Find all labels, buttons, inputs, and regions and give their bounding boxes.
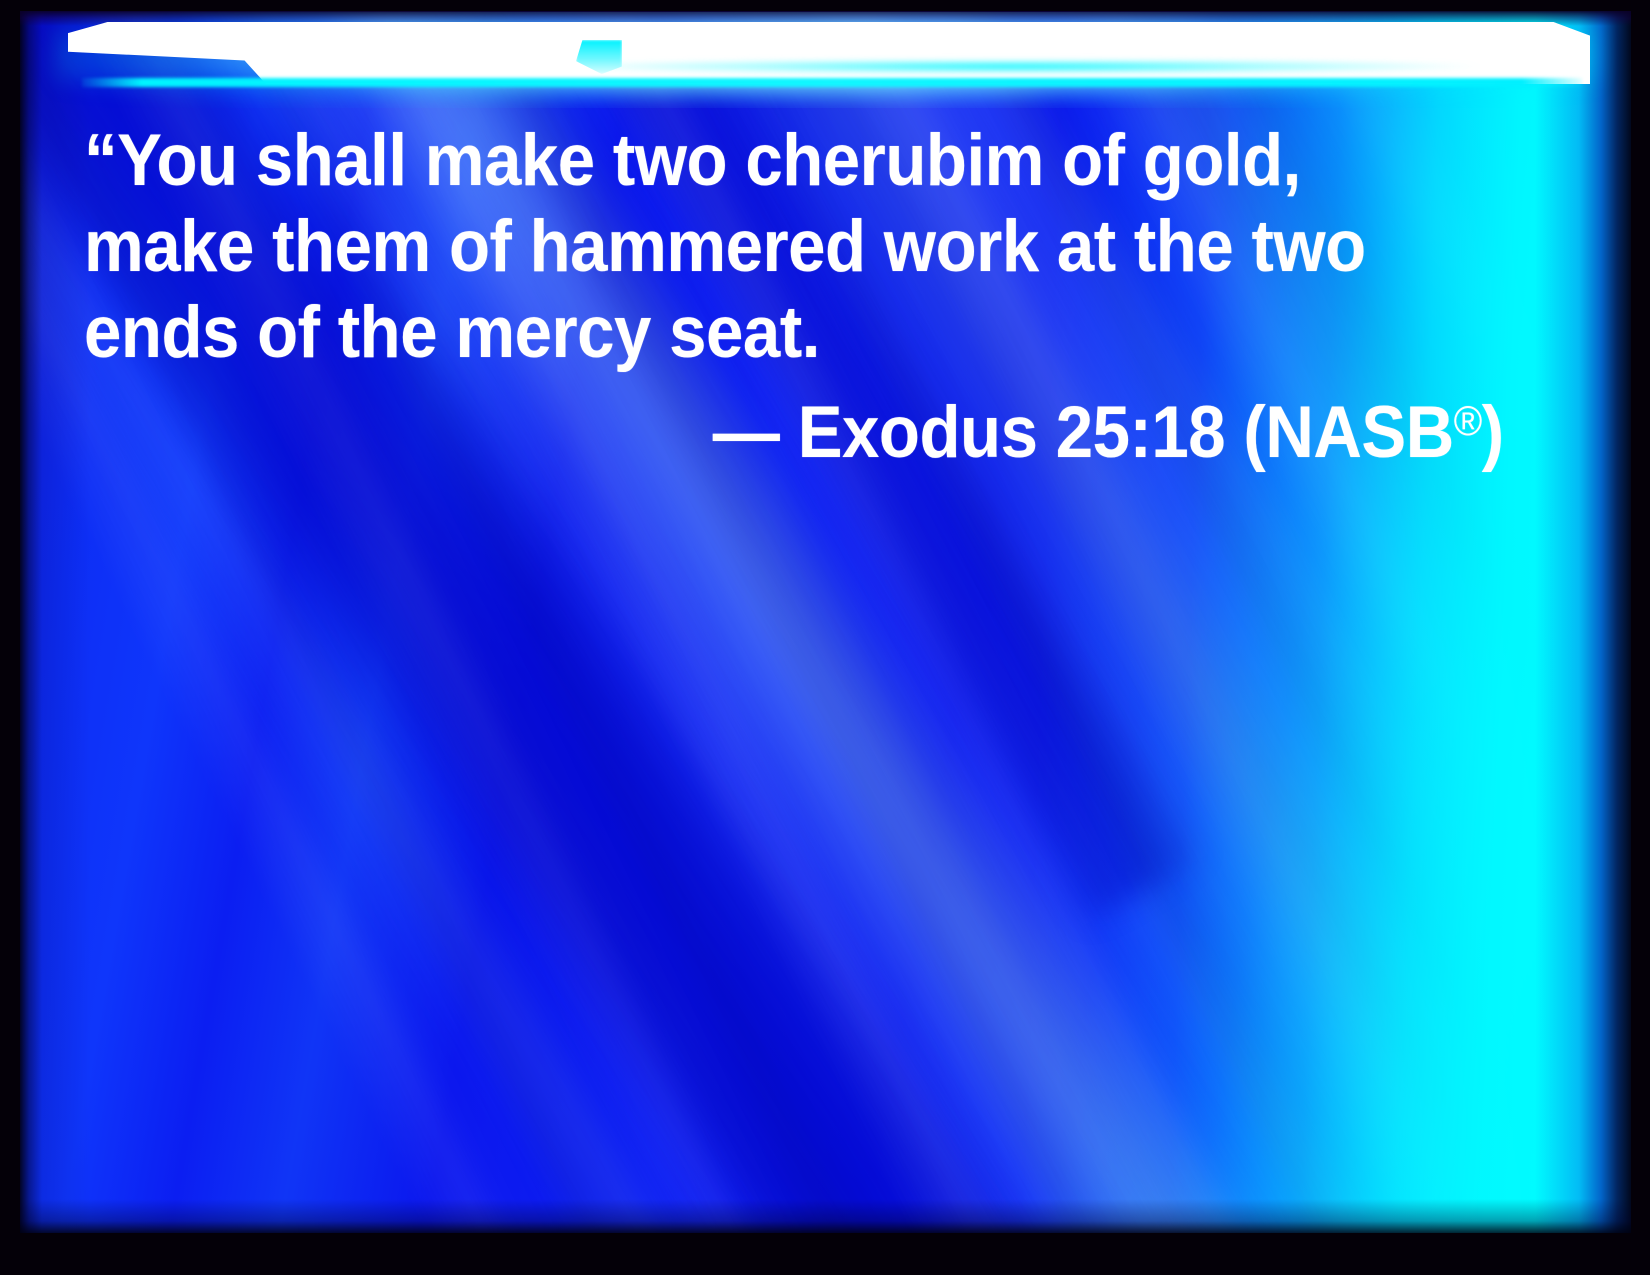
open-paren: ( [1244, 392, 1266, 473]
verse-slide: “You shall make two cherubim of gold, ma… [0, 0, 1650, 1275]
background-right-vignette [1501, 11, 1631, 1233]
verse-line-1: “You shall make two cherubim of gold, [84, 118, 1390, 204]
em-dash: — [713, 392, 780, 473]
book-name: Exodus [798, 392, 1038, 473]
verse-attribution: — Exodus 25:18 (NASB®) [713, 378, 1504, 476]
verse-line-3: ends of the mercy seat. [84, 290, 1390, 376]
close-paren: ) [1482, 392, 1504, 473]
background-bottom-vignette [20, 1193, 1631, 1233]
background-top-vignette [20, 11, 1631, 27]
verse-attribution-block: — Exodus 25:18 (NASB®) [84, 378, 1504, 476]
registered-trademark-icon: ® [1454, 397, 1482, 444]
chapter-verse: 25:18 [1056, 392, 1225, 473]
verse-line-2: make them of hammered work at the two [84, 204, 1390, 290]
verse-text-block: “You shall make two cherubim of gold, ma… [84, 118, 1504, 376]
translation-abbr: NASB [1266, 392, 1454, 473]
